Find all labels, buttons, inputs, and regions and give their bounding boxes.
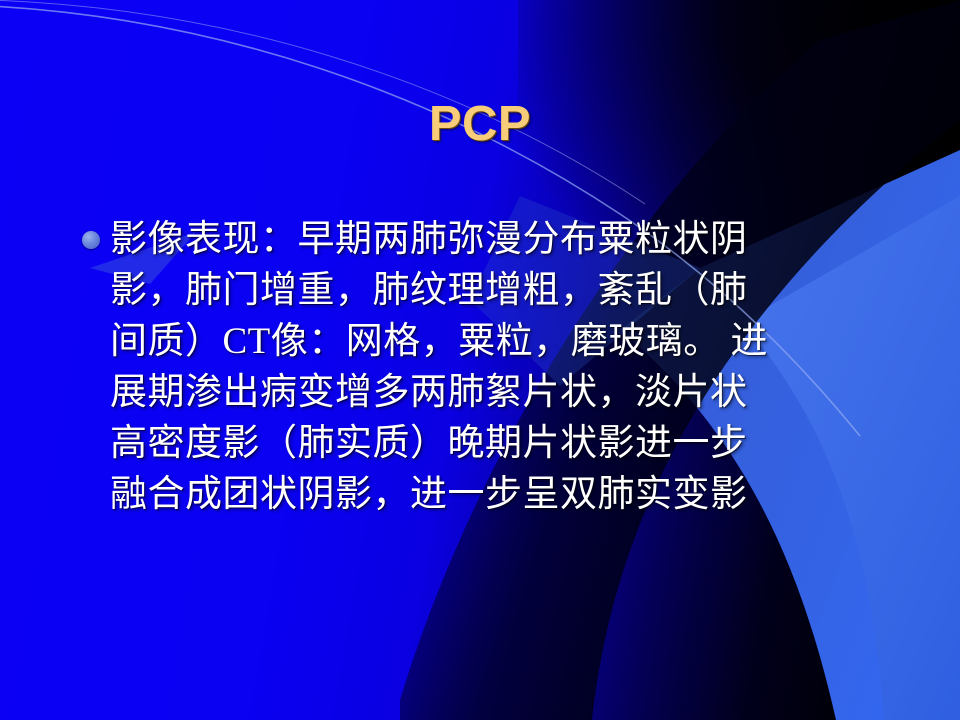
bullet-line: 间质）CT像：网格，粟粒，磨玻璃。 进 <box>110 316 882 367</box>
slide-body: 影像表现：早期两肺弥漫分布粟粒状阴 影，肺门增重，肺纹理增粗，紊乱（肺 间质）C… <box>82 214 882 520</box>
presentation-slide: PCP 影像表现：早期两肺弥漫分布粟粒状阴 影，肺门增重，肺纹理增粗，紊乱（肺 … <box>0 0 960 720</box>
bullet-line: 融合成团状阴影，进一步呈双肺实变影 <box>110 469 882 520</box>
list-item: 影像表现：早期两肺弥漫分布粟粒状阴 影，肺门增重，肺纹理增粗，紊乱（肺 间质）C… <box>82 214 882 520</box>
page-title: PCP <box>0 96 960 152</box>
bullet-line: 展期渗出病变增多两肺絮片状，淡片状 <box>110 367 882 418</box>
filled-circle-bullet-icon <box>82 231 100 249</box>
bullet-line: 高密度影（肺实质）晚期片状影进一步 <box>110 418 882 469</box>
bullet-text-block: 影像表现：早期两肺弥漫分布粟粒状阴 影，肺门增重，肺纹理增粗，紊乱（肺 间质）C… <box>110 214 882 520</box>
bullet-line: 影，肺门增重，肺纹理增粗，紊乱（肺 <box>110 265 882 316</box>
bullet-line: 影像表现：早期两肺弥漫分布粟粒状阴 <box>110 214 882 265</box>
